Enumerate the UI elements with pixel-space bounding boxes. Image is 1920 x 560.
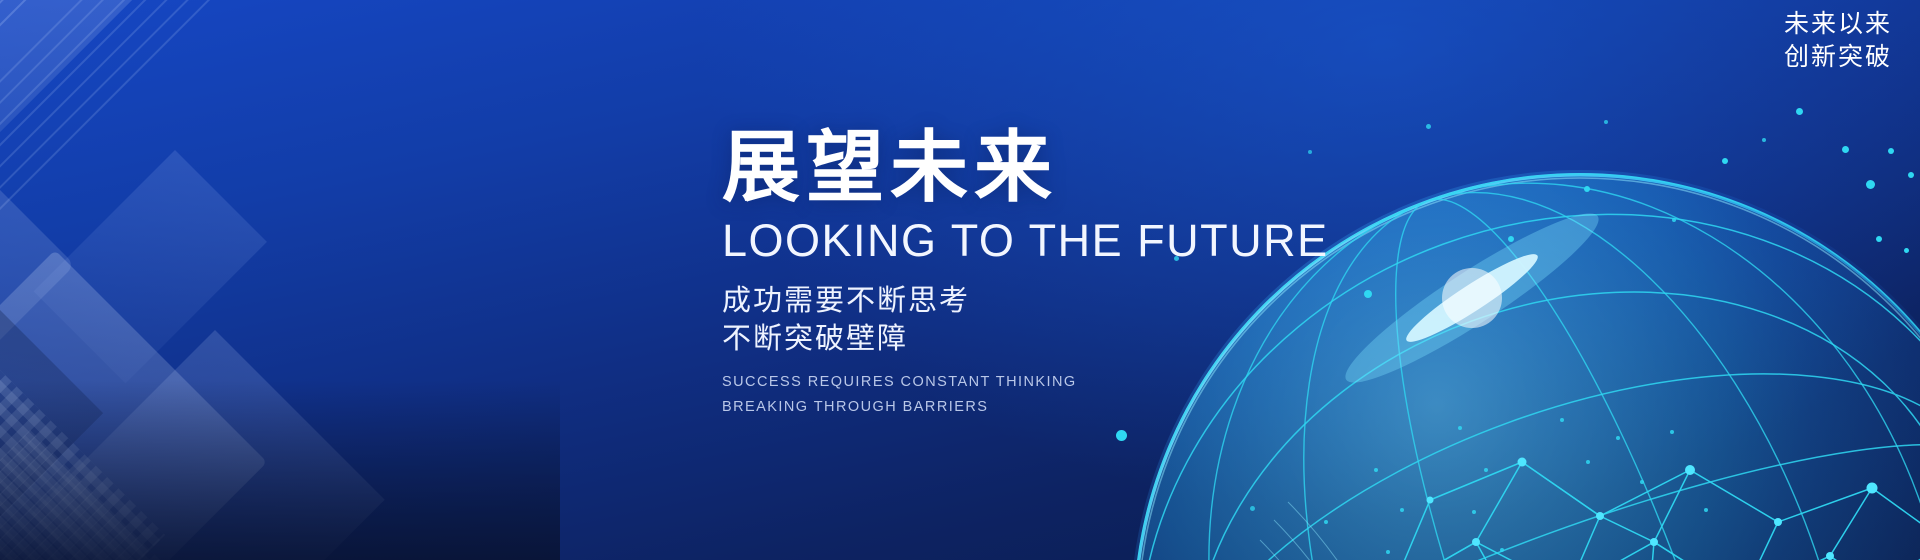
particle-dot (1866, 180, 1875, 189)
particle-dot (1508, 236, 1514, 242)
geometry-clip (0, 0, 560, 560)
bottom-vignette (0, 380, 560, 560)
particle-dot (1604, 120, 1608, 124)
decor-panel (0, 0, 166, 298)
particle-dot (1904, 248, 1909, 253)
decor-panel (0, 250, 267, 560)
subtitle-en-block: SUCCESS REQUIRES CONSTANT THINKING BREAK… (722, 370, 1362, 420)
particle-dot (1888, 148, 1894, 154)
corner-slogan-line2: 创新突破 (1784, 41, 1892, 74)
decor-panel-dark (0, 300, 103, 560)
particle-dot (1672, 218, 1676, 222)
globe-light-flare (1332, 194, 1612, 401)
particle-dot (1762, 138, 1766, 142)
subtitle-en-line2: BREAKING THROUGH BARRIERS (722, 395, 1362, 420)
page-title-english: LOOKING TO THE FUTURE (722, 218, 1362, 263)
dot-grid (0, 430, 193, 560)
subtitle-cn-line1: 成功需要不断思考 (722, 283, 1362, 321)
corner-slogan-line1: 未来以来 (1784, 8, 1892, 41)
page-title: 展望未来 (722, 128, 1362, 206)
decor-panel (34, 150, 267, 383)
corner-slogan: 未来以来 创新突破 (1784, 8, 1892, 74)
particle-dot (1250, 506, 1255, 511)
hero-banner: 展望未来 LOOKING TO THE FUTURE 成功需要不断思考 不断突破… (0, 0, 1920, 560)
decor-panel (0, 120, 75, 560)
particle-dot (1116, 430, 1127, 441)
particle-dot (1364, 290, 1372, 298)
dot-grid (0, 330, 165, 560)
headline-block: 展望未来 LOOKING TO THE FUTURE 成功需要不断思考 不断突破… (722, 128, 1362, 420)
subtitle-cn-line2: 不断突破壁障 (722, 321, 1362, 359)
particle-dot (1722, 158, 1728, 164)
particle-dot (1876, 236, 1882, 242)
particle-dot (1426, 124, 1431, 129)
particle-dot (1908, 172, 1914, 178)
particle-dot (1584, 186, 1590, 192)
decor-panel (31, 330, 385, 560)
subtitle-en-line1: SUCCESS REQUIRES CONSTANT THINKING (722, 370, 1362, 395)
particle-dot (1796, 108, 1803, 115)
particle-dot (1842, 146, 1849, 153)
